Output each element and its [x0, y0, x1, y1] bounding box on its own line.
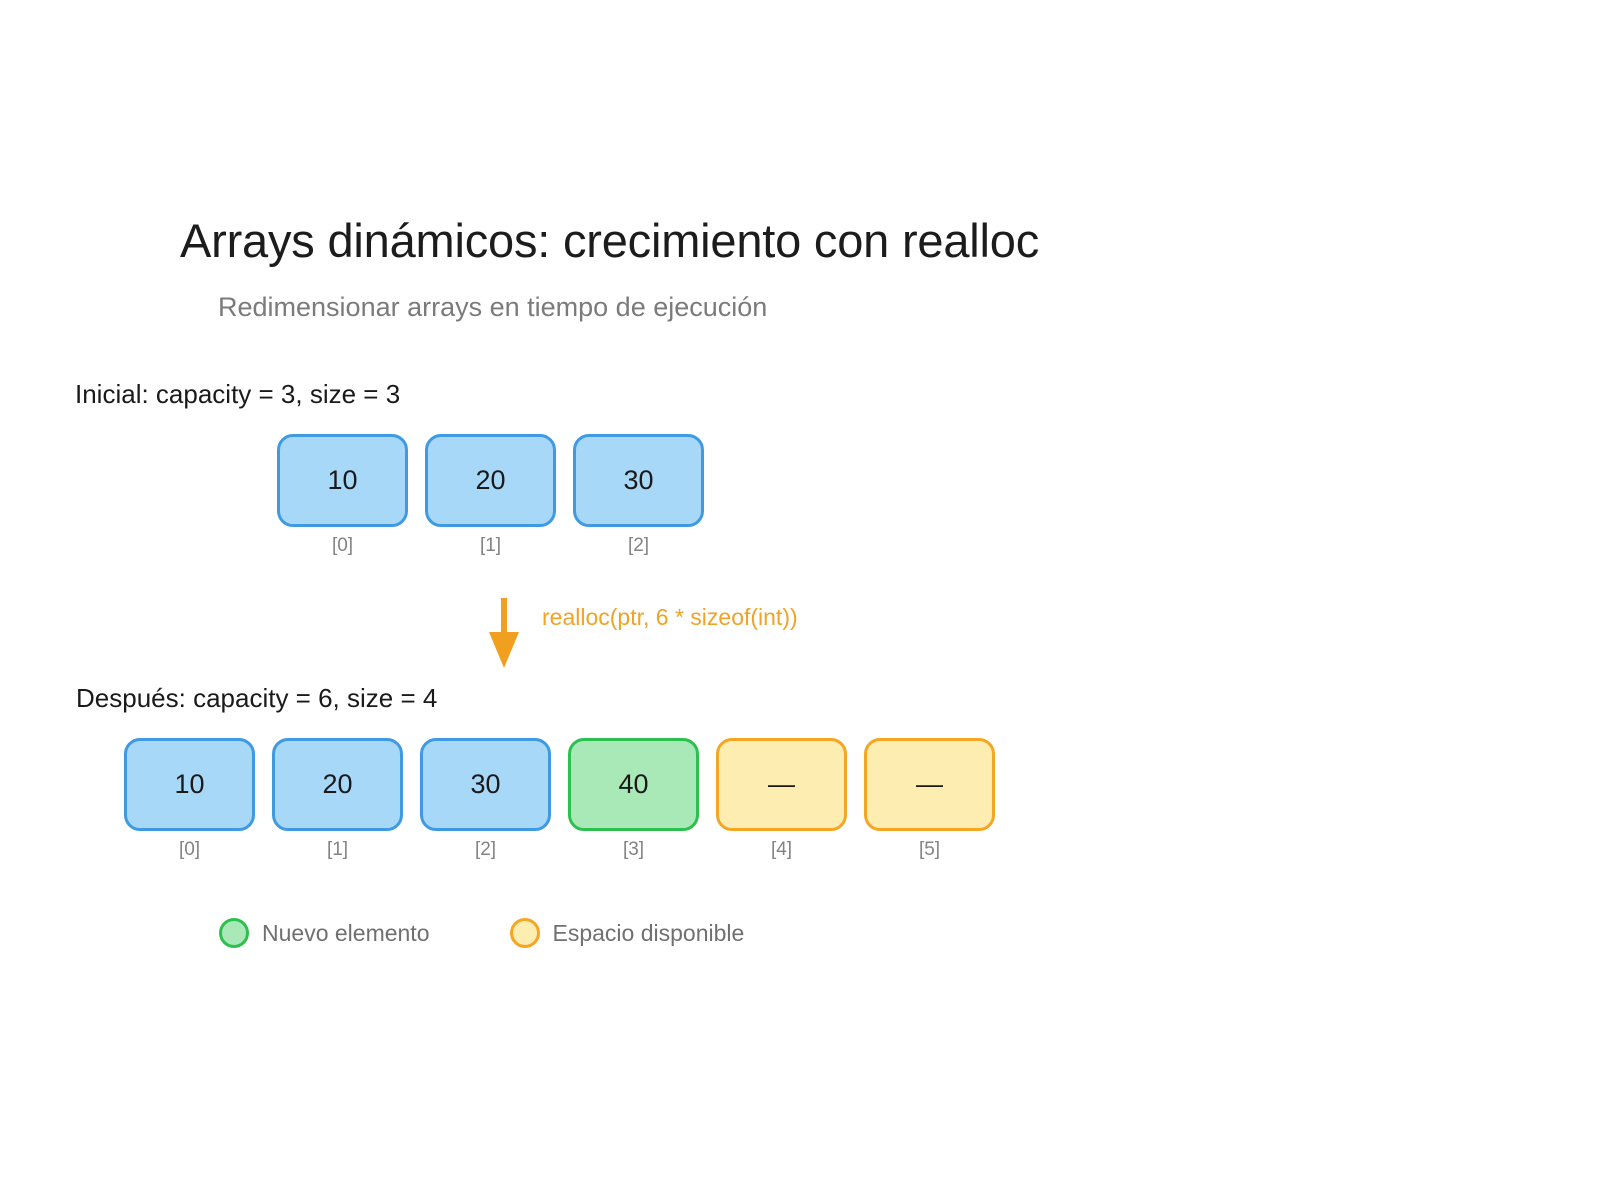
cell-box: 10 — [124, 738, 255, 831]
array-cell-0: 10 [0] — [277, 434, 408, 555]
before-row-label: Inicial: capacity = 3, size = 3 — [75, 379, 400, 410]
cell-index-label: [4] — [771, 840, 792, 859]
cell-index-label: [1] — [327, 840, 348, 859]
array-row-before: 10 [0] 20 [1] 30 [2] — [277, 434, 704, 555]
cell-index-label: [2] — [628, 536, 649, 555]
page-title: Arrays dinámicos: crecimiento con reallo… — [180, 213, 1039, 268]
array-cell-4: — [4] — [716, 738, 847, 859]
cell-index-label: [1] — [480, 536, 501, 555]
array-row-after: 10 [0] 20 [1] 30 [2] 40 [3] — [4] — [124, 738, 995, 859]
cell-box-new-element: 40 — [568, 738, 699, 831]
cell-box: 10 — [277, 434, 408, 527]
array-cell-1: 20 [1] — [272, 738, 403, 859]
cell-value: 30 — [470, 771, 500, 798]
cell-value: 10 — [174, 771, 204, 798]
circle-yellow-icon — [510, 918, 540, 948]
slide-canvas: Arrays dinámicos: crecimiento con reallo… — [0, 0, 1600, 1200]
legend: Nuevo elemento Espacio disponible — [219, 918, 744, 948]
legend-label: Espacio disponible — [553, 920, 745, 947]
legend-item-free-space: Espacio disponible — [510, 918, 745, 948]
array-cell-1: 20 [1] — [425, 434, 556, 555]
after-row-label: Después: capacity = 6, size = 4 — [76, 683, 437, 714]
cell-value: 20 — [322, 771, 352, 798]
array-cell-5: — [5] — [864, 738, 995, 859]
cell-value: — — [768, 771, 795, 798]
realloc-call-label: realloc(ptr, 6 * sizeof(int)) — [542, 604, 798, 631]
circle-green-icon — [219, 918, 249, 948]
cell-value: — — [916, 771, 943, 798]
array-cell-0: 10 [0] — [124, 738, 255, 859]
cell-value: 20 — [475, 467, 505, 494]
array-cell-3: 40 [3] — [568, 738, 699, 859]
array-cell-2: 30 [2] — [420, 738, 551, 859]
cell-index-label: [0] — [332, 536, 353, 555]
cell-box-free-slot: — — [864, 738, 995, 831]
arrow-down-icon — [470, 590, 550, 670]
cell-value: 40 — [618, 771, 648, 798]
cell-index-label: [5] — [919, 840, 940, 859]
page-subtitle: Redimensionar arrays en tiempo de ejecuc… — [218, 292, 767, 323]
cell-box: 30 — [573, 434, 704, 527]
array-cell-2: 30 [2] — [573, 434, 704, 555]
cell-index-label: [3] — [623, 840, 644, 859]
cell-box: 20 — [425, 434, 556, 527]
legend-item-new-element: Nuevo elemento — [219, 918, 430, 948]
cell-box: 30 — [420, 738, 551, 831]
cell-value: 30 — [623, 467, 653, 494]
legend-label: Nuevo elemento — [262, 920, 430, 947]
cell-index-label: [2] — [475, 840, 496, 859]
cell-box-free-slot: — — [716, 738, 847, 831]
cell-index-label: [0] — [179, 840, 200, 859]
cell-box: 20 — [272, 738, 403, 831]
transition-group: realloc(ptr, 6 * sizeof(int)) — [470, 590, 890, 680]
cell-value: 10 — [327, 467, 357, 494]
